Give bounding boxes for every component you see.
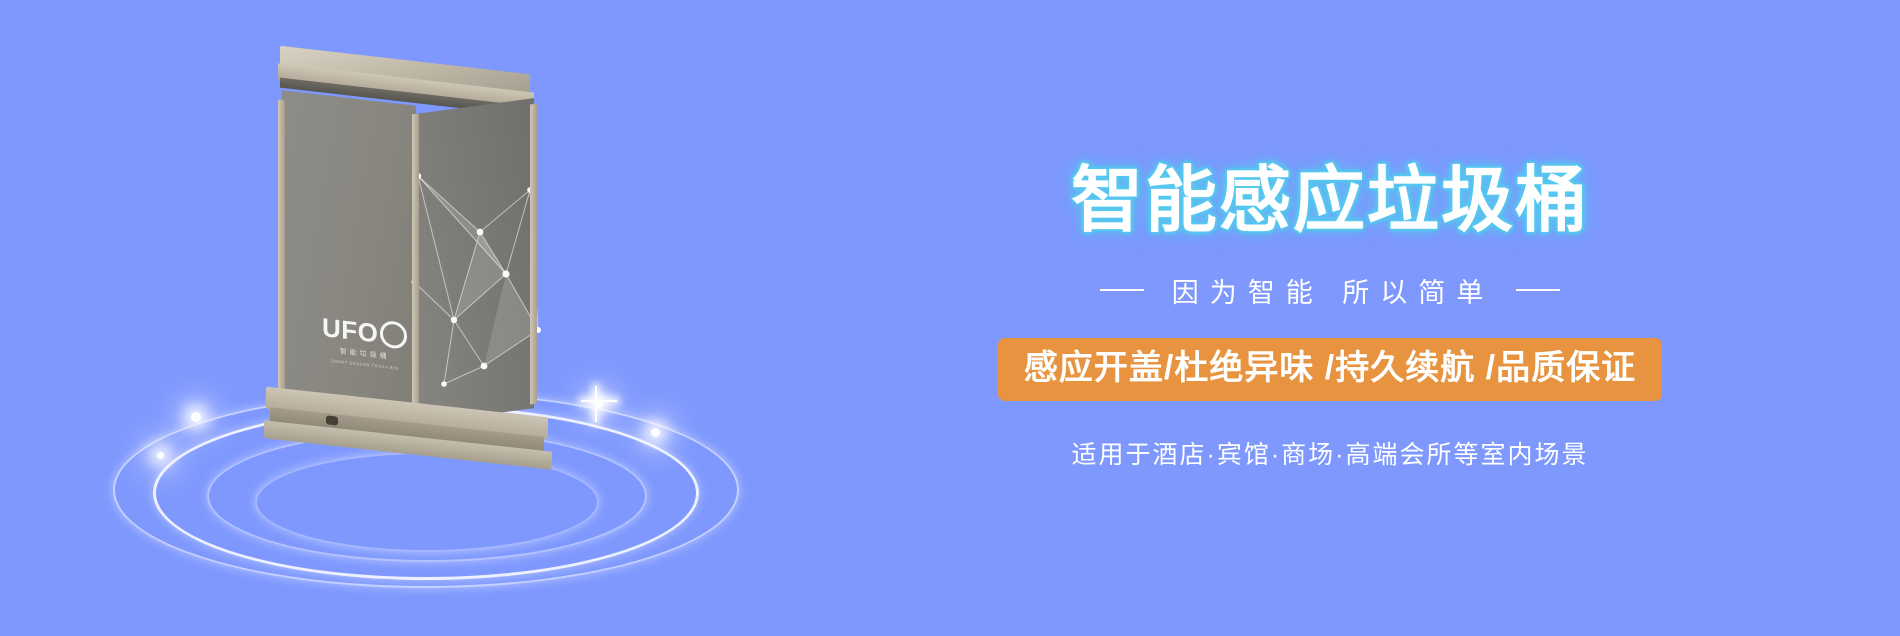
dash-left-icon <box>1100 289 1144 291</box>
sensor-icon <box>326 415 338 425</box>
bin-face-left <box>282 90 416 418</box>
sparkle-icon <box>157 452 164 459</box>
network-pattern-svg <box>410 170 544 400</box>
tagline: 适用于酒店·宾馆·商场·高端会所等室内场景 <box>1072 435 1589 471</box>
subline-phrase: 因为智能 所以简单 <box>1166 271 1495 310</box>
trash-bin: UFO 智能垃圾桶 SMART SENSOR TRASH BIN <box>260 50 560 450</box>
sparkle-icon <box>191 412 201 422</box>
bin-edge-center <box>412 114 419 432</box>
star-icon <box>595 386 597 422</box>
product-scene: UFO 智能垃圾桶 SMART SENSOR TRASH BIN <box>60 0 760 636</box>
network-pattern-graphic <box>410 170 544 400</box>
bin-edge-right <box>530 104 537 405</box>
sparkle-icon <box>651 428 660 437</box>
dash-right-icon <box>1516 289 1560 291</box>
headline: 智能感应垃圾桶 <box>1071 165 1589 237</box>
promo-banner: UFO 智能垃圾桶 SMART SENSOR TRASH BIN 智能感应垃圾桶… <box>0 0 1900 636</box>
subline: 因为智能 所以简单 <box>1100 271 1561 310</box>
copy-block: 智能感应垃圾桶 因为智能 所以简单 感应开盖/杜绝异味 /持久续航 /品质保证 … <box>830 0 1830 636</box>
star-icon <box>581 400 617 402</box>
bin-edge-left <box>278 100 285 419</box>
feature-pill: 感应开盖/杜绝异味 /持久续航 /品质保证 <box>998 338 1662 402</box>
